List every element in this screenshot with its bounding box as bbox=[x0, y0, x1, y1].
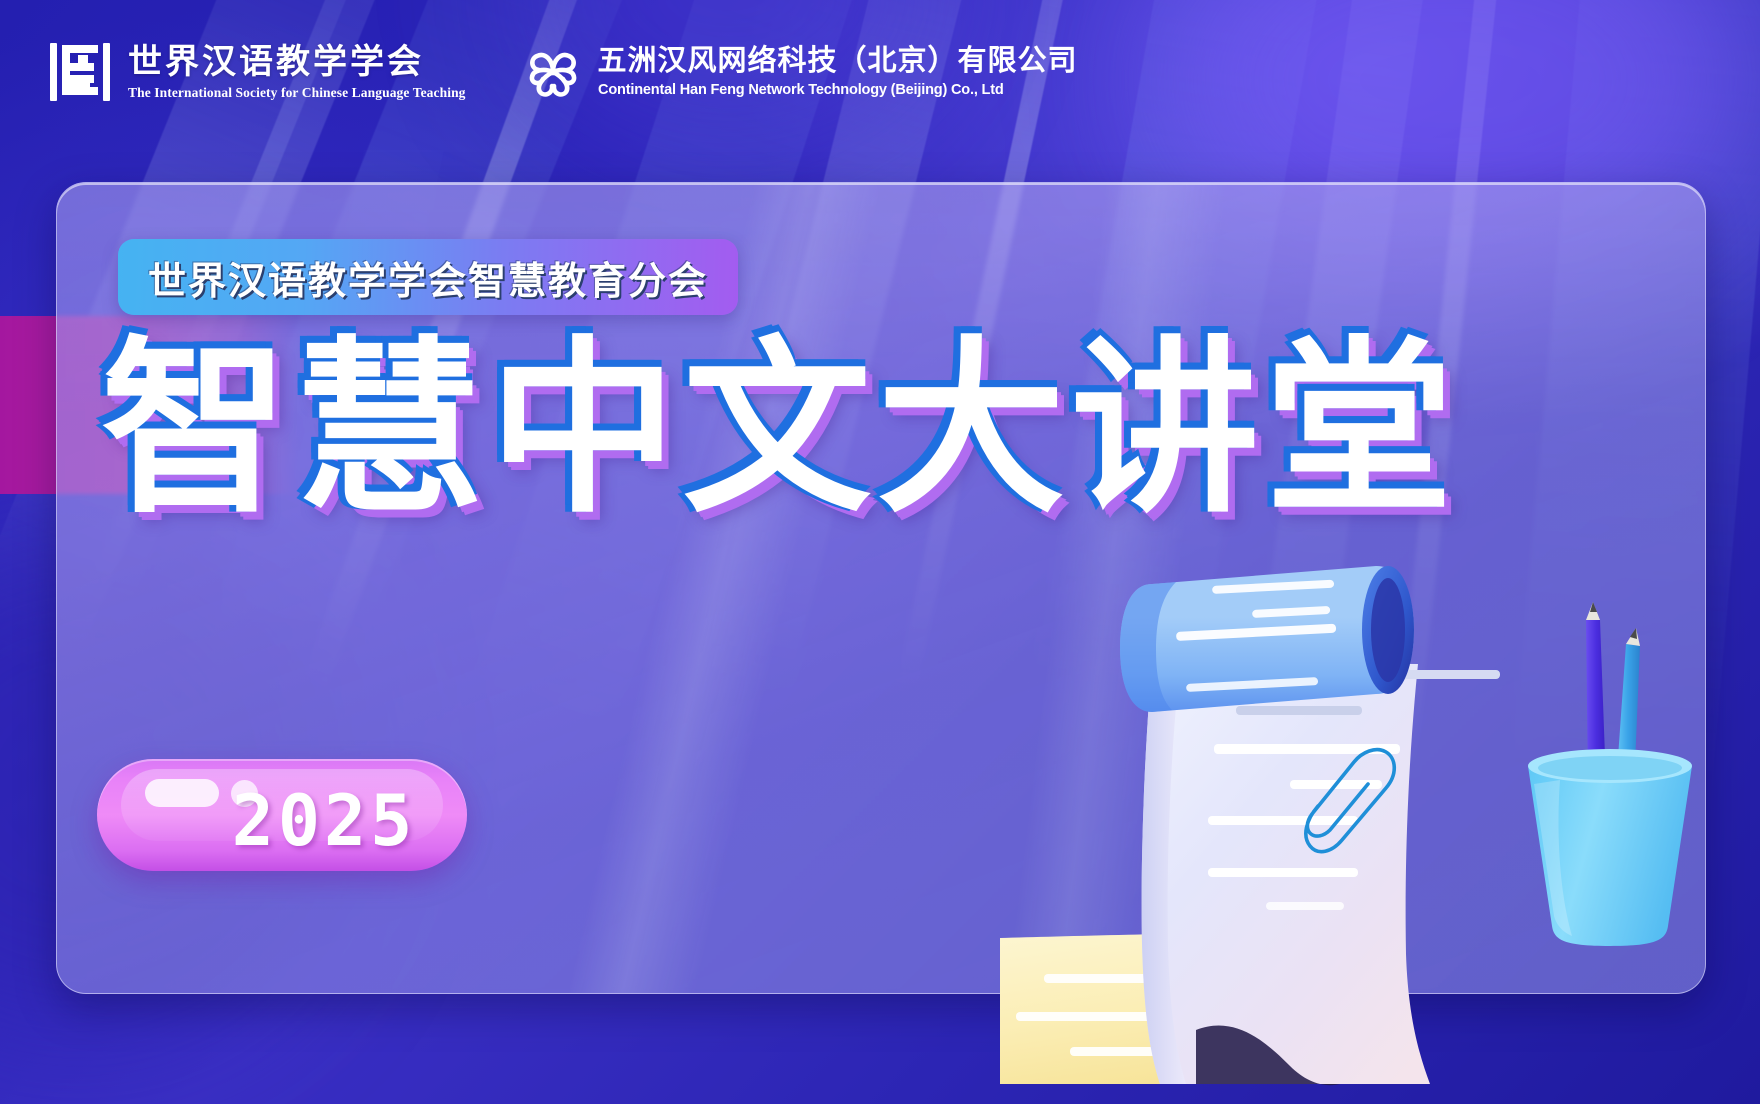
logo-isclt: 世界汉语教学学会 The International Society for C… bbox=[48, 40, 466, 104]
year-badge: 2025 bbox=[97, 759, 467, 871]
page-title: 智慧中文大讲堂 bbox=[101, 335, 1459, 523]
year-badge-highlight-bar bbox=[145, 779, 219, 807]
header-logos: 世界汉语教学学会 The International Society for C… bbox=[48, 40, 1078, 104]
glass-card: 世界汉语教学学会智慧教育分会 智慧中文大讲堂 2025 bbox=[56, 182, 1706, 994]
logo-hanfeng: 五洲汉风网络科技（北京）有限公司 Continental Han Feng Ne… bbox=[524, 46, 1078, 98]
logo-hanfeng-en: Continental Han Feng Network Technology … bbox=[598, 82, 1064, 97]
logo-isclt-en: The International Society for Chinese La… bbox=[128, 86, 466, 100]
logo-isclt-cn: 世界汉语教学学会 bbox=[128, 45, 466, 79]
year-badge-label: 2025 bbox=[232, 780, 417, 862]
poster-stage: 世界汉语教学学会 The International Society for C… bbox=[0, 0, 1760, 1104]
seal-square-logo-icon bbox=[48, 40, 112, 104]
logo-hanfeng-cn: 五洲汉风网络科技（北京）有限公司 bbox=[598, 47, 1078, 76]
swirl-pinwheel-logo-icon bbox=[524, 46, 582, 98]
sub-organization-badge: 世界汉语教学学会智慧教育分会 bbox=[118, 239, 738, 315]
sub-organization-badge-label: 世界汉语教学学会智慧教育分会 bbox=[148, 250, 708, 305]
